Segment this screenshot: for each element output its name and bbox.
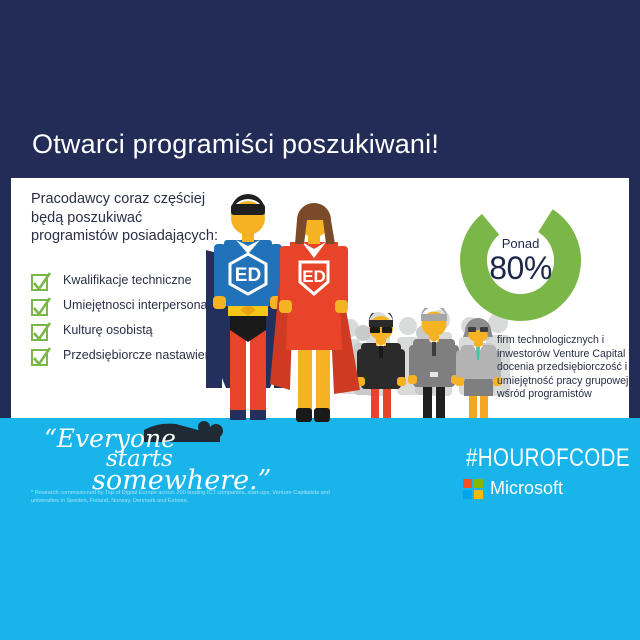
donut-prefix-label: Ponad — [458, 236, 583, 251]
superhero-female: ED — [264, 194, 366, 424]
list-item-label: Kulturę osobistą — [63, 323, 153, 338]
microsoft-logo: Microsoft — [463, 478, 563, 499]
hero-badge-female-text: ED — [302, 267, 326, 286]
stat-description: firm technologicznych i inwestorów Ventu… — [497, 334, 637, 402]
intro-text: Pracodawcy coraz częściej będą poszukiwa… — [31, 190, 221, 246]
infographic-poster: Otwarci programiści poszukiwani! Pracoda… — [0, 0, 640, 640]
hourofcode-hashtag: #HOUROFCODE — [466, 444, 630, 473]
donut-chart: Ponad 80% — [458, 198, 583, 323]
page-title: Otwarci programiści poszukiwani! — [32, 129, 439, 160]
checkbox-checked-icon — [31, 324, 48, 341]
donut-percent-label: 80% — [458, 251, 583, 285]
checkbox-checked-icon — [31, 299, 48, 316]
ms-square-yellow — [474, 490, 483, 499]
footnote-text: * Research commissioned by Top of Digita… — [31, 489, 331, 506]
microsoft-squares-icon — [463, 479, 483, 499]
quote-block: “Everyone starts somewhere.” — [44, 424, 274, 486]
ms-square-blue — [463, 490, 472, 499]
microsoft-wordmark: Microsoft — [490, 478, 563, 499]
checkbox-checked-icon — [31, 274, 48, 291]
list-item-label: Kwalifikacje techniczne — [63, 273, 192, 288]
ms-square-red — [463, 479, 472, 488]
hero-badge-male-text: ED — [235, 265, 261, 286]
donut-center-label: Ponad 80% — [458, 236, 583, 285]
ms-square-green — [474, 479, 483, 488]
checkbox-checked-icon — [31, 349, 48, 366]
